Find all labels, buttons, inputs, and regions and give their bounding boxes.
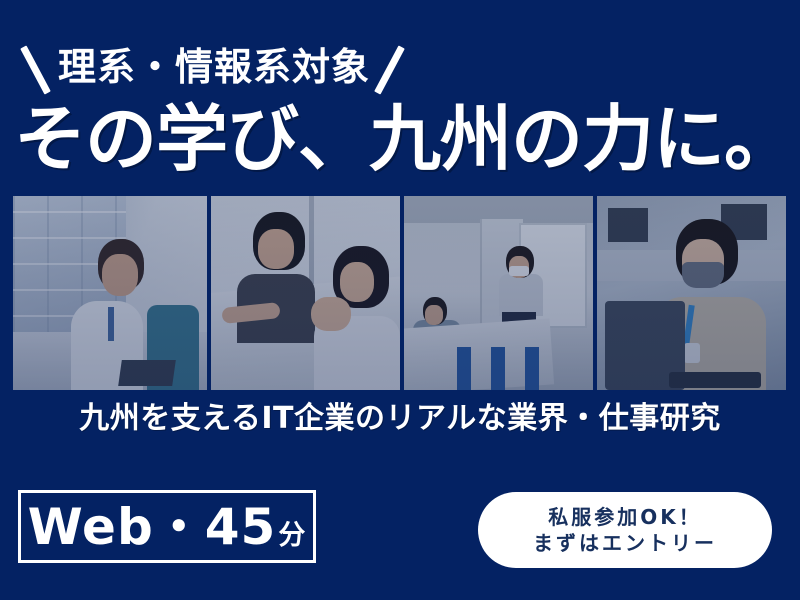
recruitment-seminar-banner: 理系・情報系対象 その学び、九州の力に。 [0, 0, 800, 600]
format-label: Web・45 [28, 502, 277, 552]
lanyard [108, 307, 114, 341]
background-monitor-left [608, 208, 648, 242]
person-b-face [340, 262, 374, 302]
photo-4-scene [597, 196, 786, 390]
subtitle: 九州を支えるIT企業のリアルな業界・仕事研究 [0, 404, 800, 434]
laptop [118, 360, 176, 386]
photo-1-scene [13, 196, 207, 390]
person-a-face [258, 229, 294, 269]
photo-strip [13, 196, 786, 390]
person-b-hands [311, 297, 351, 331]
headline: その学び、九州の力に。 [14, 98, 786, 180]
attendee-face [425, 305, 443, 325]
entry-line-2: まずはエントリー [533, 532, 717, 554]
photo-3-scene [404, 196, 593, 390]
right-slash-icon [374, 42, 408, 92]
format-text: Web・45 分 [28, 502, 307, 552]
tagline-text: 理系・情報系対象 [54, 48, 374, 86]
keyboard [669, 372, 761, 388]
face-mask [682, 262, 724, 288]
left-slash-icon [20, 42, 54, 92]
presenter-body [499, 274, 543, 317]
presenter-mask [509, 266, 529, 276]
entry-cta-badge[interactable]: 私服参加OK！ まずはエントリー [478, 492, 772, 568]
photo-2-scene [211, 196, 400, 390]
headline-text: その学び、九州の力に。 [14, 103, 795, 175]
id-card [684, 343, 700, 363]
tagline: 理系・情報系対象 [0, 36, 800, 98]
photo-employee-at-computer [597, 196, 786, 390]
format-badge: Web・45 分 [18, 490, 316, 563]
entry-line-1: 私服参加OK！ [548, 506, 702, 528]
photo-employee-at-desk [13, 196, 207, 390]
person-face [102, 254, 138, 296]
format-unit: 分 [278, 522, 306, 549]
photo-women-meeting [211, 196, 400, 390]
blue-chairs [457, 347, 555, 390]
photo-whiteboard-presentation [404, 196, 593, 390]
